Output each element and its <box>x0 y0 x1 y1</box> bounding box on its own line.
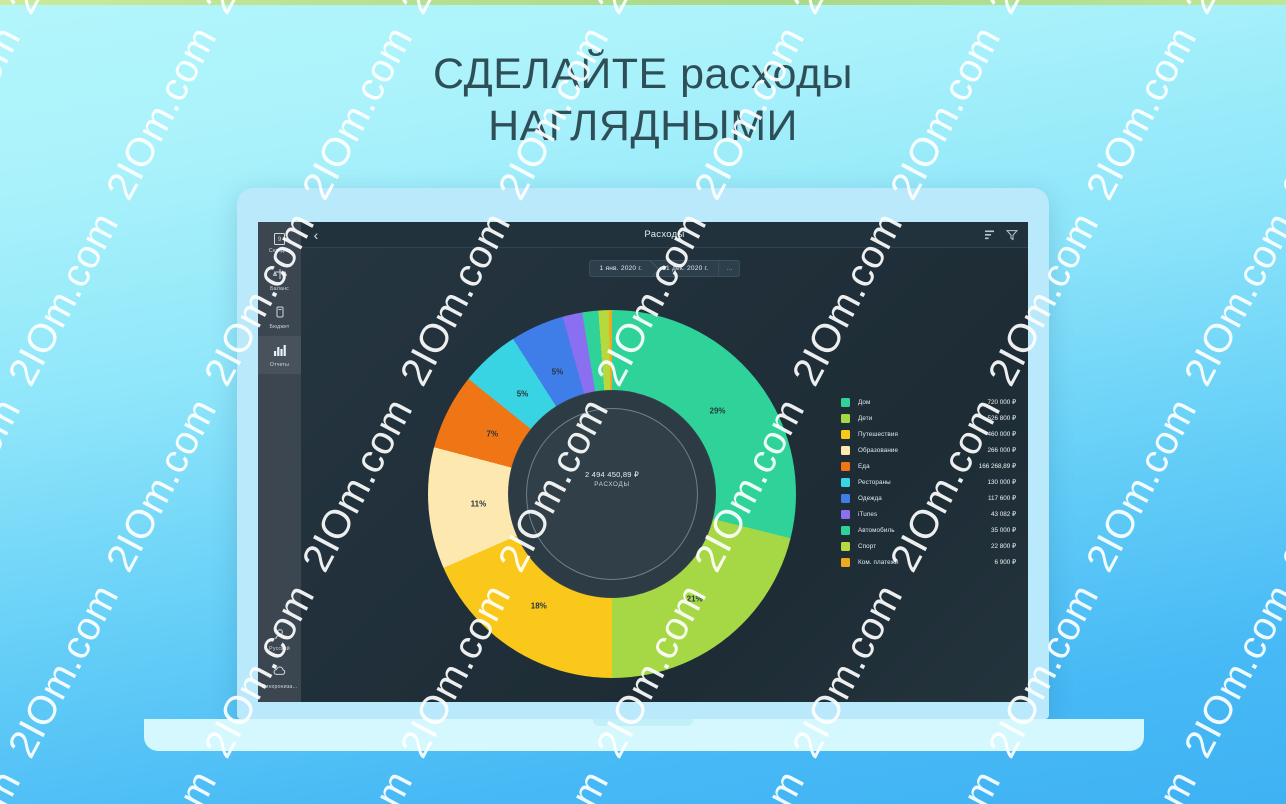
legend-color-swatch <box>841 478 850 487</box>
slice-percent-label: 5% <box>517 390 529 399</box>
sidebar-item-segodnya[interactable]: 9 Сегодня <box>258 222 301 260</box>
legend-amount-value: 166 268,89 ₽ <box>979 463 1016 470</box>
legend-row[interactable]: iTunes43 082 ₽ <box>841 506 1016 522</box>
legend-row[interactable]: Дети526 800 ₽ <box>841 410 1016 426</box>
legend-color-swatch <box>841 526 850 535</box>
titlebar-actions <box>984 228 1018 241</box>
legend-category-label: Дом <box>858 399 987 406</box>
legend-amount-value: 22 800 ₽ <box>991 543 1016 550</box>
sidebar-item-russkiy[interactable]: Русский <box>258 620 301 658</box>
laptop-notch <box>593 719 693 726</box>
legend-color-swatch <box>841 558 850 567</box>
legend-amount-value: 43 082 ₽ <box>991 511 1016 518</box>
app-sidebar: 9 Сегодня Баланс Бюджет Отчеты <box>258 222 301 702</box>
donut-inner-ring <box>526 408 698 580</box>
sidebar-item-balans[interactable]: Баланс <box>258 260 301 298</box>
legend-category-label: Путешествия <box>858 431 987 438</box>
chevron-left-icon[interactable]: ‹ <box>309 227 323 243</box>
legend-row[interactable]: Образование266 000 ₽ <box>841 442 1016 458</box>
sidebar-item-label: Сегодня <box>258 248 301 254</box>
sidebar-item-label: Бюджет <box>258 324 301 330</box>
sidebar-item-label: Русский <box>258 646 301 652</box>
legend-amount-value: 266 000 ₽ <box>987 447 1016 454</box>
legend-category-label: Спорт <box>858 543 991 550</box>
legend-amount-value: 526 800 ₽ <box>987 415 1016 422</box>
legend-category-label: Дети <box>858 415 987 422</box>
legend-color-swatch <box>841 414 850 423</box>
app-titlebar: ‹ Расходы <box>301 222 1028 248</box>
legend-category-label: Рестораны <box>858 479 987 486</box>
donut-center-total: 2 494 450,89 ₽ РАСХОДЫ <box>526 470 698 488</box>
total-label: РАСХОДЫ <box>526 481 698 488</box>
cloud-icon <box>258 665 301 681</box>
slice-percent-label: 11% <box>471 500 487 509</box>
legend-amount-value: 35 000 ₽ <box>991 527 1016 534</box>
legend-category-label: iTunes <box>858 511 991 518</box>
total-amount: 2 494 450,89 ₽ <box>526 470 698 479</box>
legend-category-label: Автомобиль <box>858 527 991 534</box>
app-content: ‹ Расходы 1 янв. 2020 г. 31 дек. 2020 г.… <box>301 222 1028 702</box>
legend-category-label: Ком. платежи <box>858 559 994 566</box>
legend-amount-value: 460 000 ₽ <box>987 431 1016 438</box>
sidebar-item-label: Отчеты <box>258 362 301 368</box>
sidebar-item-byudzhet[interactable]: Бюджет <box>258 298 301 336</box>
legend-color-swatch <box>841 462 850 471</box>
laptop-mockup: 9 Сегодня Баланс Бюджет Отчеты <box>0 0 1286 804</box>
legend-amount-value: 130 000 ₽ <box>987 479 1016 486</box>
expenses-legend: Дом720 000 ₽Дети526 800 ₽Путешествия460 … <box>841 394 1016 570</box>
sidebar-item-label: Синхрониза... <box>258 684 301 690</box>
legend-row[interactable]: Дом720 000 ₽ <box>841 394 1016 410</box>
calendar-badge: 9 <box>274 233 285 245</box>
scales-icon <box>258 267 301 283</box>
slice-percent-label: 18% <box>531 602 547 611</box>
slice-percent-label: 7% <box>487 429 499 438</box>
legend-row[interactable]: Еда166 268,89 ₽ <box>841 458 1016 474</box>
legend-color-swatch <box>841 446 850 455</box>
legend-row[interactable]: Рестораны130 000 ₽ <box>841 474 1016 490</box>
legend-amount-value: 720 000 ₽ <box>987 399 1016 406</box>
slice-percent-label: 29% <box>710 407 726 416</box>
date-range-to[interactable]: 31 дек. 2020 г. <box>652 261 718 276</box>
legend-amount-value: 117 600 ₽ <box>988 495 1016 502</box>
user-icon <box>258 627 301 643</box>
app-screen: 9 Сегодня Баланс Бюджет Отчеты <box>258 222 1028 702</box>
sidebar-item-otchety[interactable]: Отчеты <box>258 336 301 374</box>
legend-color-swatch <box>841 510 850 519</box>
legend-category-label: Одежда <box>858 495 988 502</box>
expenses-donut-chart: 2 494 450,89 ₽ РАСХОДЫ 29%21%18%11%7%5%5… <box>411 310 811 690</box>
legend-row[interactable]: Путешествия460 000 ₽ <box>841 426 1016 442</box>
legend-color-swatch <box>841 542 850 551</box>
legend-row[interactable]: Одежда117 600 ₽ <box>841 490 1016 506</box>
legend-row[interactable]: Автомобиль35 000 ₽ <box>841 522 1016 538</box>
legend-color-swatch <box>841 430 850 439</box>
legend-category-label: Еда <box>858 463 979 470</box>
slice-percent-label: 5% <box>552 367 564 376</box>
sort-icon[interactable] <box>984 228 996 241</box>
date-range-selector[interactable]: 1 янв. 2020 г. 31 дек. 2020 г. ... <box>589 260 741 277</box>
legend-category-label: Образование <box>858 447 987 454</box>
filter-icon[interactable] <box>1006 228 1018 241</box>
calendar-icon: 9 <box>258 229 301 245</box>
legend-row[interactable]: Спорт22 800 ₽ <box>841 538 1016 554</box>
date-range-more-button[interactable]: ... <box>718 261 739 276</box>
legend-color-swatch <box>841 398 850 407</box>
sidebar-item-label: Баланс <box>258 286 301 292</box>
bar-chart-icon <box>258 343 301 359</box>
legend-color-swatch <box>841 494 850 503</box>
legend-amount-value: 6 900 ₽ <box>994 559 1016 566</box>
slice-percent-label: 21% <box>687 595 703 604</box>
date-range-from[interactable]: 1 янв. 2020 г. <box>590 261 653 276</box>
legend-row[interactable]: Ком. платежи6 900 ₽ <box>841 554 1016 570</box>
wallet-icon <box>258 305 301 321</box>
sidebar-item-sinhronizaciya[interactable]: Синхрониза... <box>258 658 301 696</box>
page-title: Расходы <box>301 229 1028 240</box>
